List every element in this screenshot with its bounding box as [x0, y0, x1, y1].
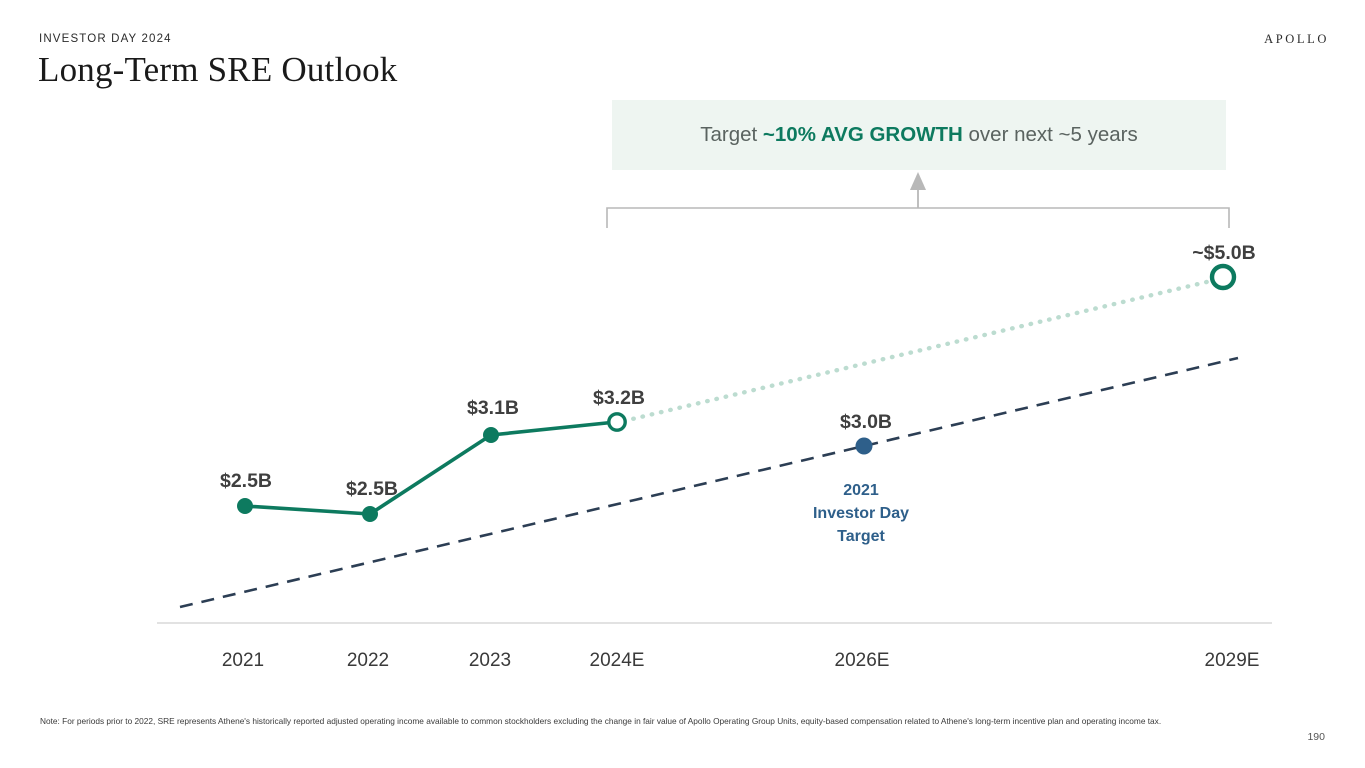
data-point-2023	[483, 427, 499, 443]
x-tick-2023: 2023	[469, 650, 511, 671]
x-tick-2029e: 2029E	[1205, 650, 1260, 671]
x-tick-2022: 2022	[347, 650, 389, 671]
value-label-2026e: $3.0B	[840, 411, 892, 433]
bracket-connector	[607, 172, 1229, 228]
page-number: 190	[1307, 731, 1325, 743]
value-label-2021: $2.5B	[220, 470, 272, 492]
data-point-2026e-target	[856, 438, 873, 455]
target-annotation-line3: Target	[837, 528, 885, 545]
data-point-2024e	[609, 414, 625, 430]
series-investor-day-target-line	[180, 358, 1238, 607]
data-point-2029e	[1212, 266, 1234, 288]
target-annotation-line1: 2021	[843, 482, 879, 499]
data-point-2021	[237, 498, 253, 514]
series-sre-actual-line	[245, 422, 616, 514]
footnote: Note: For periods prior to 2022, SRE rep…	[40, 716, 1285, 727]
bracket-path	[607, 208, 1229, 228]
x-tick-2026e: 2026E	[835, 650, 890, 671]
value-label-2024e: $3.2B	[593, 387, 645, 409]
target-annotation-line2: Investor Day	[813, 505, 909, 522]
value-label-2022: $2.5B	[346, 478, 398, 500]
sre-outlook-chart: $2.5B $2.5B $3.1B $3.2B ~$5.0B $3.0B 202…	[0, 0, 1365, 700]
value-label-2023: $3.1B	[467, 397, 519, 419]
x-tick-2021: 2021	[222, 650, 264, 671]
bracket-arrow-icon	[910, 172, 926, 190]
series-sre-projection-line	[624, 280, 1215, 421]
value-label-2029e: ~$5.0B	[1192, 242, 1255, 264]
x-tick-2024e: 2024E	[590, 650, 645, 671]
data-point-2022	[362, 506, 378, 522]
